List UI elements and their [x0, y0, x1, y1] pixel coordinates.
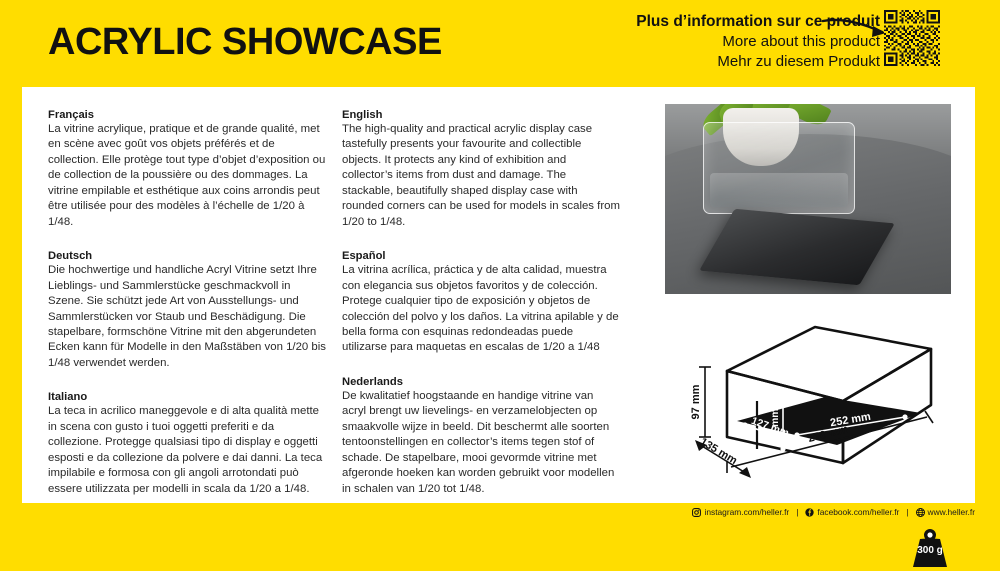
description-block-francais: Français La vitrine acrylique, pratique … [48, 109, 326, 230]
language-heading: Español [342, 250, 620, 262]
footer-link-website[interactable]: www.heller.fr [916, 507, 975, 517]
weight-value: 300 g [906, 545, 954, 556]
footer-link-label: www.heller.fr [928, 507, 975, 517]
footer-link-label: instagram.com/heller.fr [704, 507, 789, 517]
footer-separator: | [906, 507, 908, 517]
language-heading: Deutsch [48, 250, 326, 262]
language-heading: Italiano [48, 391, 326, 403]
footer-link-label: facebook.com/heller.fr [817, 507, 899, 517]
poster-page: ACRYLIC SHOWCASE Plus d’information sur … [0, 0, 1000, 527]
footer-link-instagram[interactable]: instagram.com/heller.fr [692, 507, 789, 517]
instagram-icon [692, 508, 701, 517]
description-column-right: English The high-quality and practical a… [342, 109, 620, 512]
photo-case-reflection [710, 173, 848, 207]
qr-code-icon[interactable] [884, 10, 940, 66]
language-body: La vitrine acrylique, pratique et de gra… [48, 122, 326, 230]
language-body: The high-quality and practical acrylic d… [342, 122, 620, 230]
technical-drawing: 97 mm 135 mm 127 mm 80 mm [665, 309, 965, 481]
footer-links: instagram.com/heller.fr | facebook.com/h… [692, 507, 975, 517]
description-block-english: English The high-quality and practical a… [342, 109, 620, 230]
footer-link-facebook[interactable]: facebook.com/heller.fr [805, 507, 899, 517]
globe-icon [916, 508, 925, 517]
photo-acrylic-case [703, 122, 855, 214]
description-block-deutsch: Deutsch Die hochwertige und handliche Ac… [48, 250, 326, 371]
header-bar: ACRYLIC SHOWCASE Plus d’information sur … [0, 0, 1000, 87]
language-body: De kwalitatief hoogstaande en handige vi… [342, 389, 620, 497]
footer-separator: | [796, 507, 798, 517]
dimension-depth-outer: 135 mm [698, 436, 739, 468]
description-block-italiano: Italiano La teca in acrilico maneggevole… [48, 391, 326, 497]
promo-line-de: Mehr zu diesem Produkt [636, 52, 880, 72]
language-heading: English [342, 109, 620, 121]
page-title: ACRYLIC SHOWCASE [48, 21, 442, 64]
language-body: La vitrina acrílica, práctica y de alta … [342, 263, 620, 356]
description-block-espanol: Español La vitrina acrílica, práctica y … [342, 250, 620, 356]
product-photo [665, 104, 951, 294]
facebook-icon [805, 508, 814, 517]
description-block-nederlands: Nederlands De kwalitatief hoogstaande en… [342, 376, 620, 497]
dimension-height-inner: 80 mm [769, 408, 781, 441]
curved-arrow-icon [822, 17, 892, 43]
footer-bar: instagram.com/heller.fr | facebook.com/h… [0, 503, 1000, 527]
language-heading: Nederlands [342, 376, 620, 388]
language-body: Die hochwertige und handliche Acryl Vitr… [48, 263, 326, 371]
language-heading: Français [48, 109, 326, 121]
dimension-height-outer: 97 mm [690, 384, 702, 419]
content-panel: Français La vitrine acrylique, pratique … [22, 87, 975, 503]
language-body: La teca in acrilico maneggevole e di alt… [48, 404, 326, 497]
description-column-left: Français La vitrine acrylique, pratique … [48, 109, 326, 512]
